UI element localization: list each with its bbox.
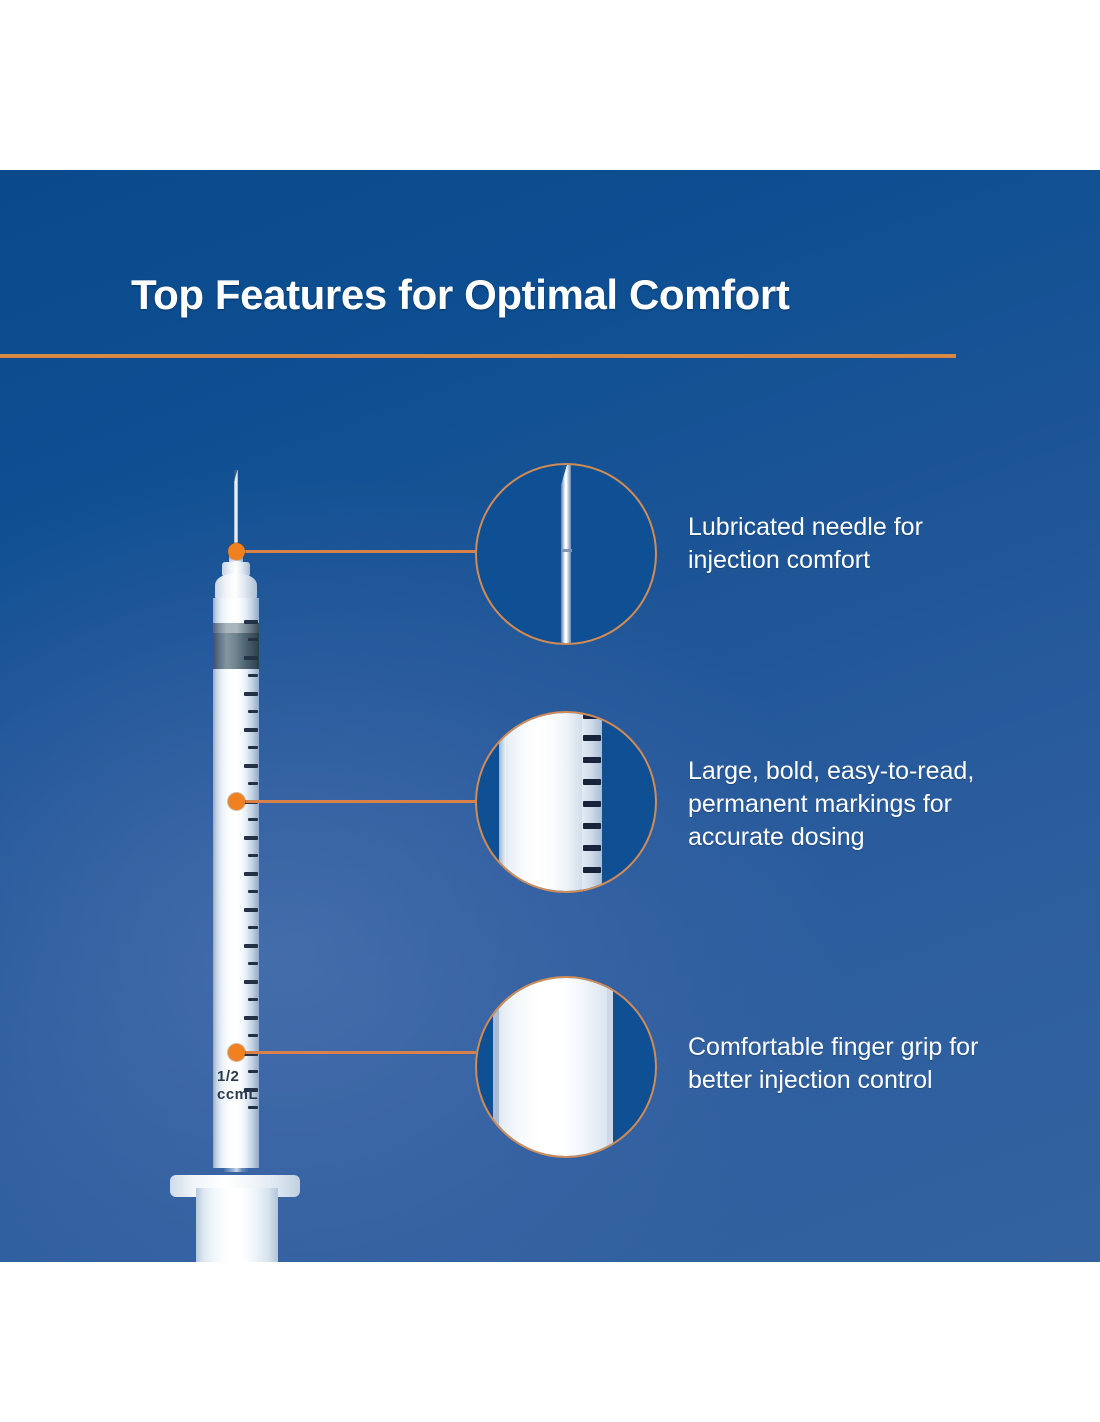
callout-dot-needle (228, 543, 245, 560)
magnifier-circle-grip (475, 976, 657, 1158)
magnifier-circle-markings (475, 711, 657, 893)
callout-dot-grip (228, 1044, 245, 1061)
feature-caption-markings: Large, bold, easy-to-read, permanent mar… (688, 755, 1028, 854)
magnified-barrel-body (499, 711, 591, 893)
magnified-needle-bevel-icon (561, 463, 571, 493)
feature-caption-needle: Lubricated needle for injection comfort (688, 511, 1018, 577)
connector-line-grip (236, 1051, 476, 1054)
magnifier-circle-needle (475, 463, 657, 645)
connector-line-markings (236, 800, 476, 803)
syringe-units-label: ccmL (217, 1086, 258, 1103)
feature-caption-grip: Comfortable finger grip for better injec… (688, 1031, 1028, 1097)
magnified-grip-body (493, 976, 613, 1158)
infographic-panel: Top Features for Optimal Comfort (0, 170, 1100, 1262)
callout-dot-markings (228, 793, 245, 810)
syringe-volume-label: 1/2 (217, 1068, 239, 1085)
syringe-illustration: 1/2 ccmL (160, 470, 310, 1190)
magnified-grip-right-edge (607, 976, 613, 1158)
magnified-barrel-left-edge (499, 711, 506, 893)
title-divider (0, 354, 956, 358)
magnified-grip-left-edge (493, 976, 499, 1158)
page-title: Top Features for Optimal Comfort (131, 271, 789, 319)
syringe-finger-grip (196, 1188, 278, 1262)
connector-line-needle (236, 550, 476, 553)
magnified-needle-seam (561, 549, 572, 552)
